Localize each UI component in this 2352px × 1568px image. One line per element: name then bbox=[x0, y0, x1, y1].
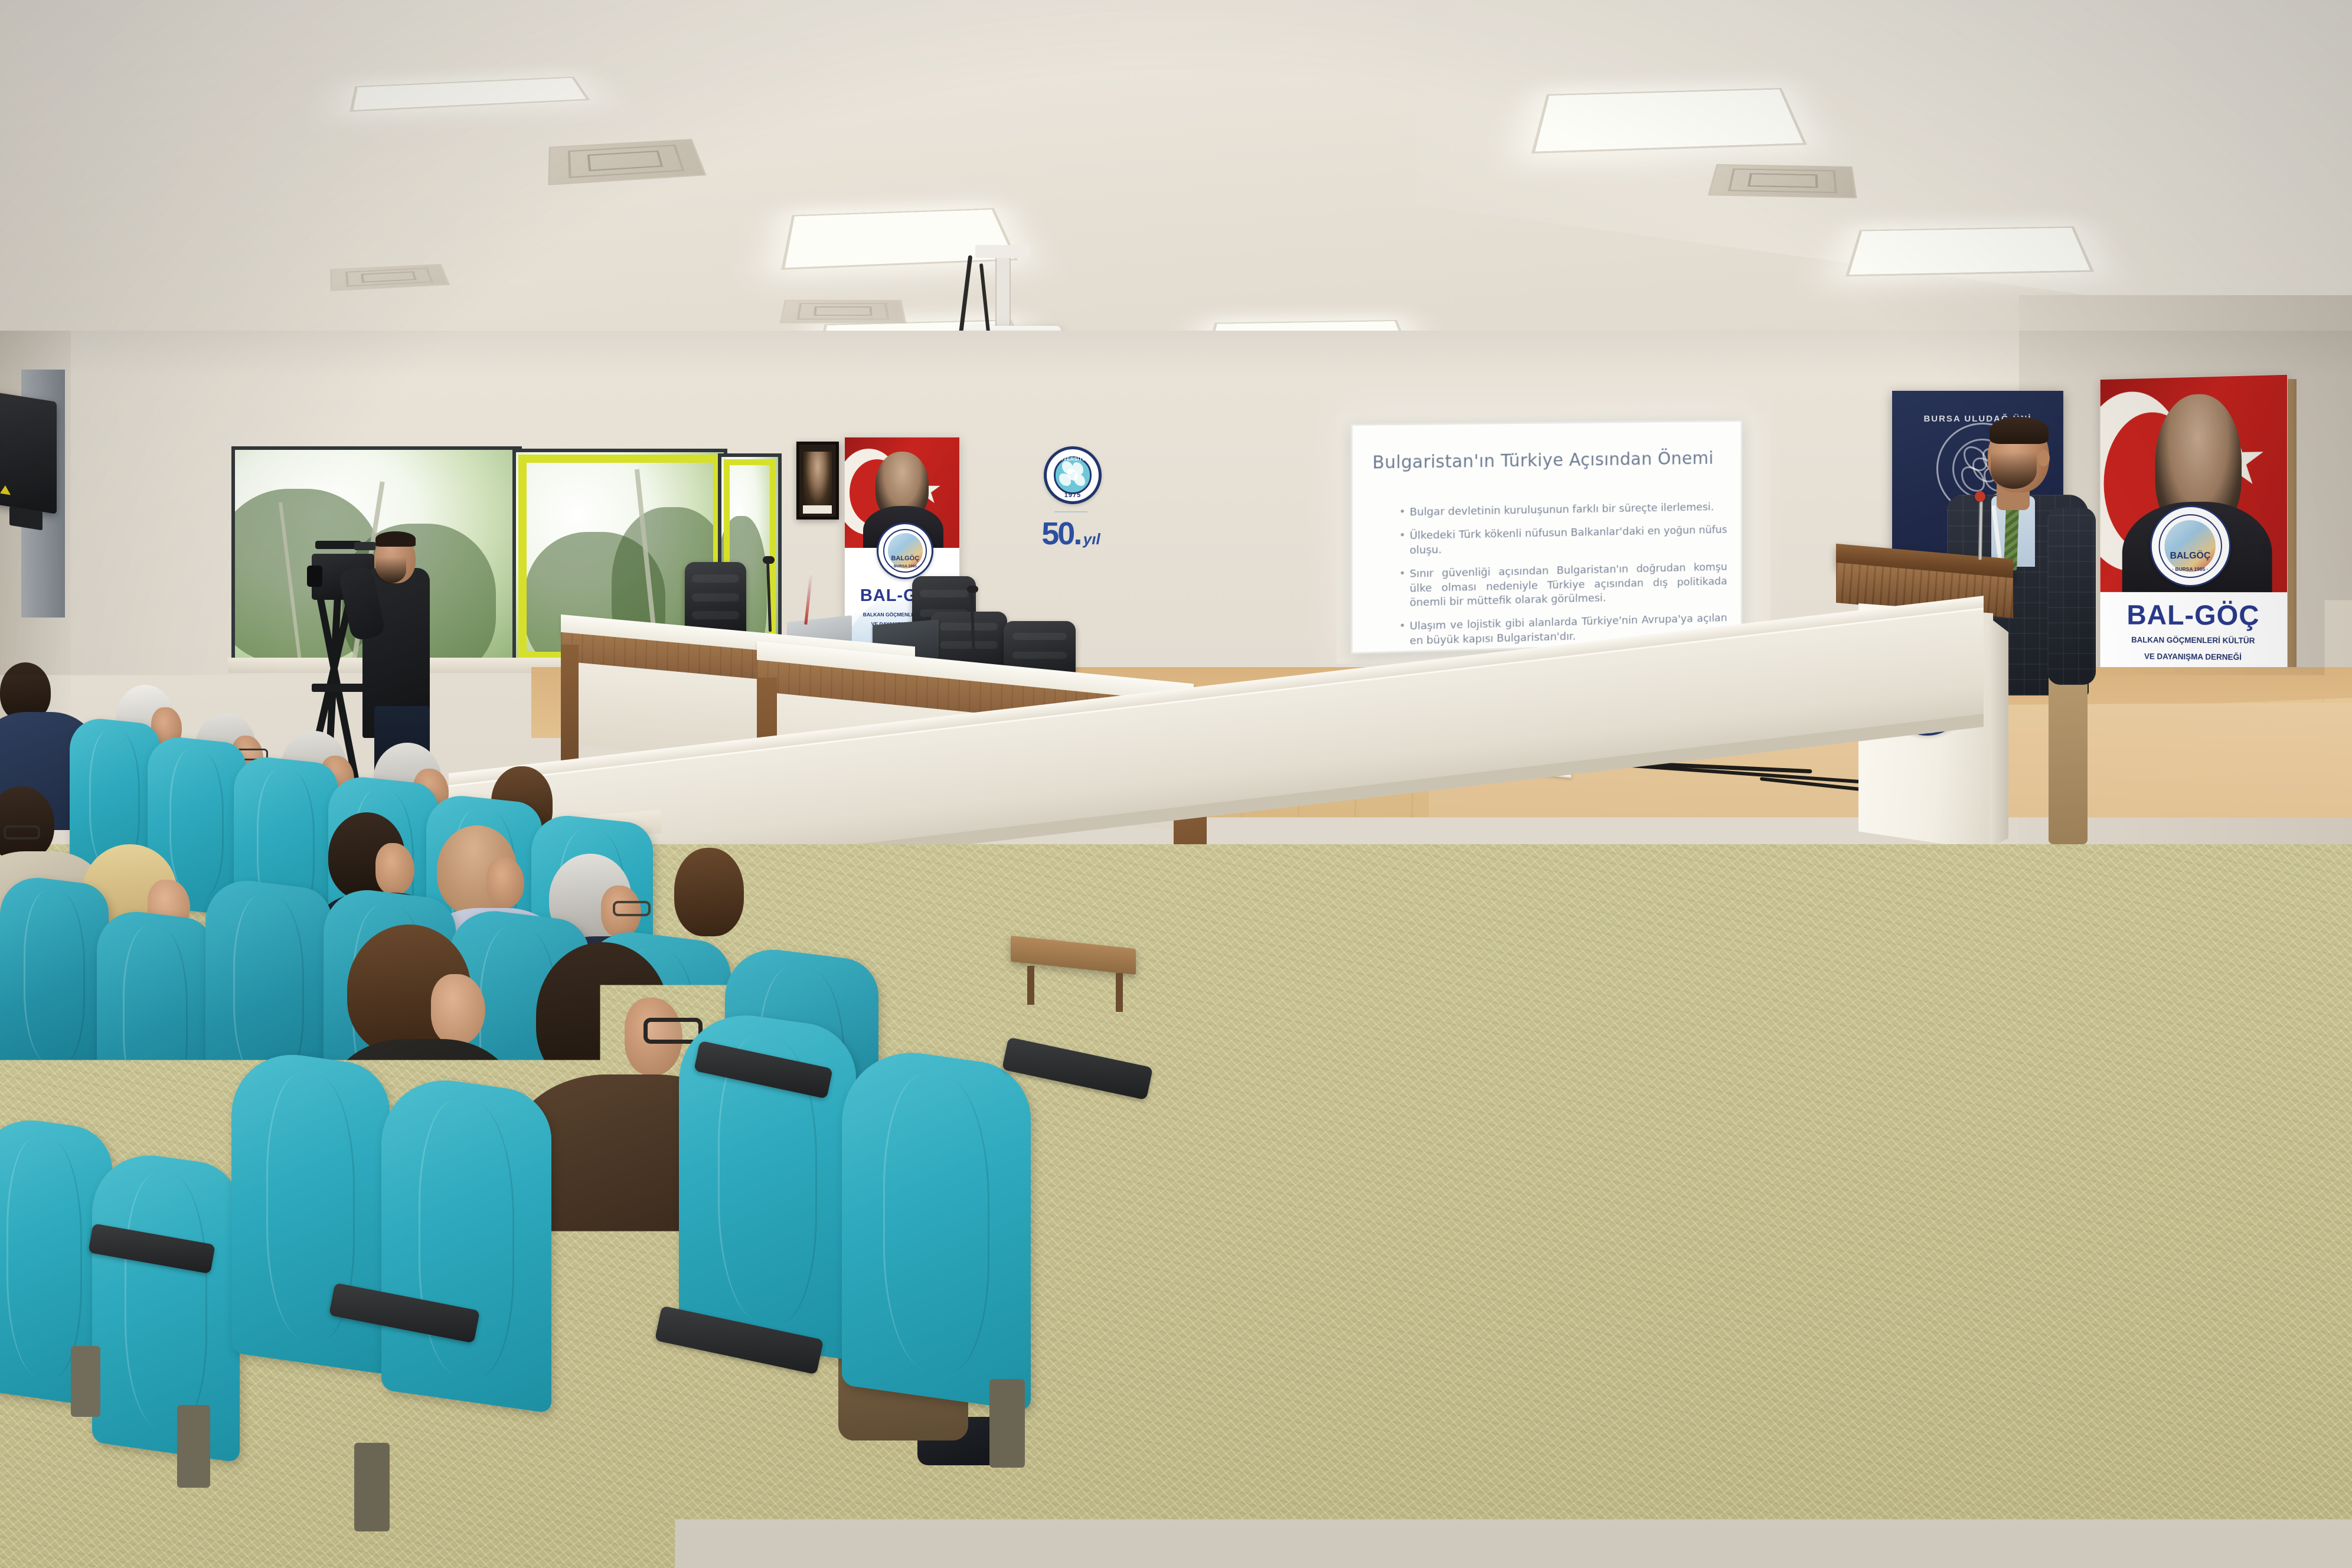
ataturk-portrait-photo bbox=[803, 452, 831, 509]
balgoc-seal: BALGÖÇ · BURSA 1985 · bbox=[877, 522, 933, 579]
auditorium-scene: BALGÖÇ · BURSA 1985 · BAL-GÖÇ BALKAN GÖÇ… bbox=[0, 0, 2352, 1568]
speaker-ear bbox=[2038, 450, 2050, 466]
side-table-leg bbox=[1116, 973, 1123, 1012]
eyeglasses-icon bbox=[613, 901, 651, 916]
auditorium-seat[interactable] bbox=[381, 1071, 551, 1413]
ceiling-light-panel bbox=[1531, 88, 1807, 153]
balgoc-seal-bottom-text: · BURSA 1985 · bbox=[878, 564, 932, 569]
speaker-jacket-arm bbox=[2047, 508, 2096, 685]
projector-ceiling-plate bbox=[975, 245, 1030, 258]
microphone-capsule bbox=[763, 556, 775, 564]
balgoc-subtitle-line1: BALKAN GÖÇMENLERİ KÜLTÜR bbox=[2101, 635, 2287, 646]
balgoc-seal-center-text: BALGÖÇ bbox=[878, 555, 932, 562]
seal-divider bbox=[1054, 511, 1087, 512]
auditorium-seat[interactable] bbox=[842, 1043, 1031, 1412]
hvac-vent bbox=[780, 300, 907, 324]
speaker-trousers bbox=[2049, 667, 2088, 844]
anniversary-number: 50. bbox=[1041, 516, 1080, 551]
hvac-vent bbox=[1708, 164, 1857, 198]
auditorium-seat[interactable] bbox=[92, 1146, 240, 1462]
wall-shadow bbox=[0, 331, 2352, 378]
seat-pedestal bbox=[989, 1379, 1025, 1468]
seat-pedestal bbox=[71, 1346, 100, 1417]
ceiling-light-panel bbox=[781, 208, 1018, 270]
camera-lens bbox=[307, 566, 322, 587]
microphone-head-icon bbox=[1975, 491, 1985, 502]
anniversary-50-yil-logo: 50. yıl bbox=[1035, 520, 1106, 570]
podium-side bbox=[1990, 608, 2008, 848]
cameraman-beard bbox=[375, 557, 406, 583]
ataturk-portrait-frame bbox=[796, 442, 839, 520]
seat-pedestal bbox=[177, 1405, 210, 1488]
university-seal-wall: BURSA ULUDAĞ ÜNİVERSİTESİ 1975 bbox=[1044, 446, 1102, 504]
balgoc-seal-center-text: BALGÖÇ bbox=[2152, 551, 2229, 561]
warning-triangle-icon bbox=[0, 485, 11, 495]
projector-mount-pole bbox=[995, 253, 1011, 329]
audience-head bbox=[674, 848, 744, 936]
speaker-beard bbox=[1991, 452, 2037, 489]
audience-face bbox=[486, 857, 524, 908]
projection-screen: Bulgaristan'ın Türkiye Açısından Önemi B… bbox=[1351, 420, 1742, 654]
eyeglasses-icon bbox=[4, 825, 40, 839]
balgoc-subtitle-line2: VE DAYANIŞMA DERNEĞİ bbox=[2101, 651, 2287, 663]
balgoc-seal: BALGÖÇ · BURSA 1985 · bbox=[2150, 505, 2231, 587]
portrait-caption-mat bbox=[803, 505, 831, 514]
camera-top-accessory bbox=[354, 542, 375, 550]
anniversary-word: yıl bbox=[1083, 530, 1100, 548]
balgoc-seal-bottom-text: · BURSA 1985 · bbox=[2152, 566, 2229, 572]
auditorium-seat[interactable] bbox=[0, 873, 109, 1087]
cameraman-hair bbox=[375, 531, 416, 547]
seat-pedestal bbox=[354, 1443, 390, 1531]
head-table-side-left bbox=[561, 645, 579, 775]
seal-year: 1975 bbox=[1047, 492, 1099, 499]
auditorium-seat[interactable] bbox=[97, 907, 214, 1133]
tripod-spreader bbox=[312, 684, 365, 692]
audience-face bbox=[375, 843, 414, 895]
audience-face bbox=[431, 974, 485, 1045]
seal-top-text: BURSA ULUDAĞ ÜNİVERSİTESİ bbox=[1047, 451, 1099, 462]
microphone-capsule bbox=[967, 586, 978, 593]
seat-pedestal bbox=[626, 1417, 660, 1505]
seal-inner-disc bbox=[1054, 456, 1091, 494]
speaker-hair bbox=[1990, 417, 2049, 444]
side-table-leg bbox=[1027, 966, 1034, 1005]
auditorium-seat[interactable] bbox=[231, 1046, 390, 1375]
pa-speaker bbox=[0, 391, 57, 514]
ceiling-light-panel bbox=[1845, 227, 2094, 277]
balgoc-wordmark: BAL-GÖÇ bbox=[2101, 598, 2287, 631]
